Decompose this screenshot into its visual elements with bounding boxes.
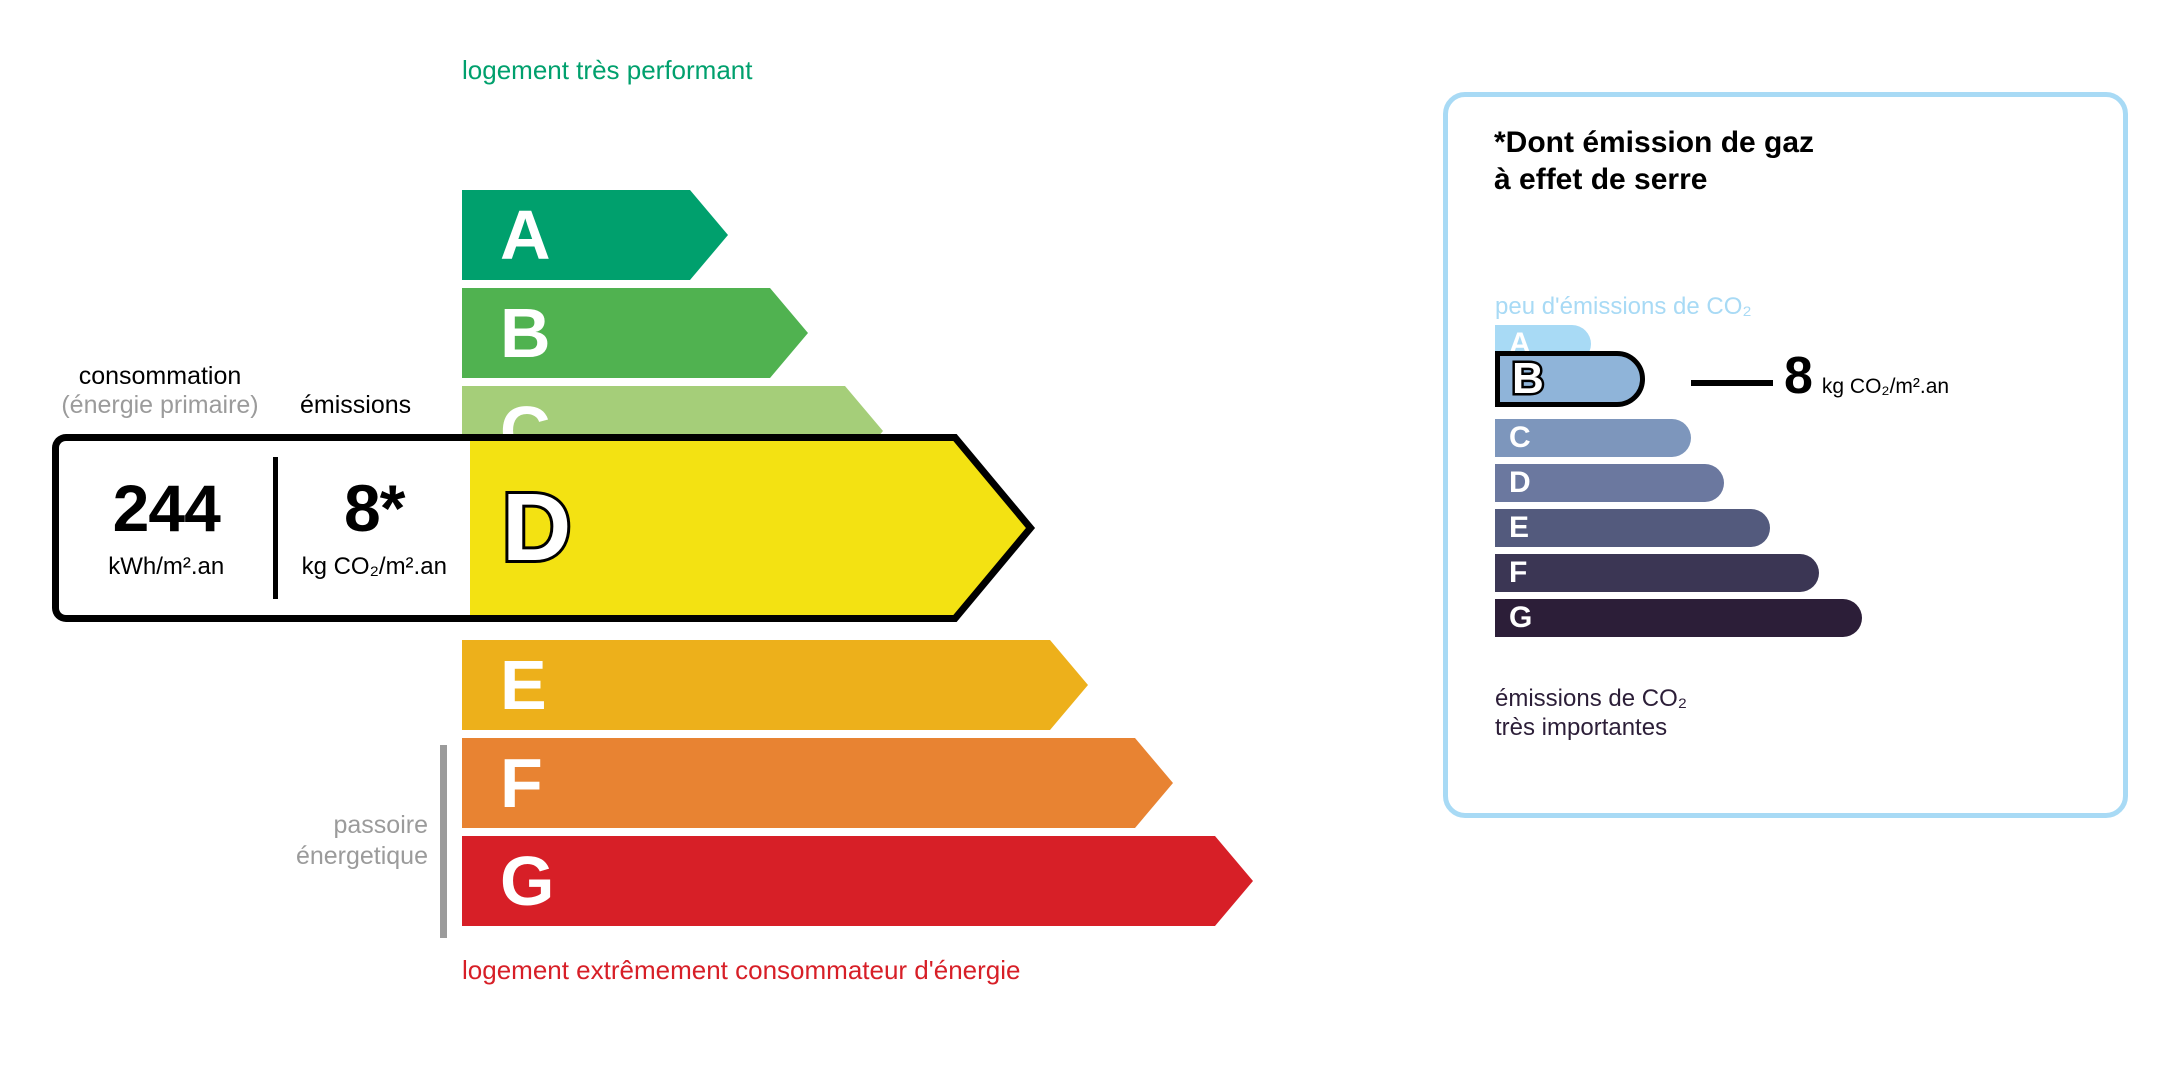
emissions-value: 8* [344, 475, 404, 541]
energy-band-letter-a: A [500, 200, 551, 270]
co2-connector-line [1691, 380, 1773, 386]
co2-bar-d: D [1495, 464, 1724, 502]
emissions-unit: kg CO₂/m².an [302, 553, 447, 581]
energy-top-caption: logement très performant [462, 55, 752, 86]
energy-band-g: G [462, 836, 1253, 926]
passoire-energetique-bar [440, 745, 447, 938]
consumption-cell: 244 kWh/m².an [59, 475, 273, 581]
co2-value-readout: 8 kg CO₂/m².an [1784, 350, 1949, 402]
energy-band-shape-g [462, 836, 1253, 926]
co2-bar-e: E [1495, 509, 1770, 547]
energy-band-f: F [462, 738, 1173, 828]
co2-bar-letter-c: C [1509, 423, 1531, 453]
value-box: 244 kWh/m².an 8* kg CO₂/m².an [52, 434, 470, 622]
emissions-header: émissions [300, 391, 411, 420]
energy-band-shape-e [462, 640, 1088, 730]
consumption-value: 244 [113, 475, 220, 541]
energy-bottom-caption: logement extrêmement consommateur d'éner… [462, 955, 1020, 986]
co2-panel: *Dont émission de gaz à effet de serre p… [1443, 92, 2128, 818]
energy-band-d: D [462, 434, 1034, 622]
energy-band-letter-b: B [500, 298, 551, 368]
consumption-header-subtitle: (énergie primaire) [60, 391, 260, 420]
co2-bar-f: F [1495, 554, 1819, 592]
energy-band-a: A [462, 190, 728, 280]
co2-bar-letter-e: E [1509, 513, 1529, 543]
passoire-line-2: énergetique [240, 841, 428, 872]
energy-band-letter-g: G [500, 846, 554, 916]
co2-top-caption: peu d'émissions de CO₂ [1495, 293, 1752, 321]
co2-bar-c: C [1495, 419, 1691, 457]
co2-bar-b: B [1495, 351, 1645, 407]
co2-value-unit: kg CO₂/m².an [1822, 375, 1949, 399]
energy-band-letter-d: D [502, 480, 571, 576]
co2-bar-letter-g: G [1509, 603, 1532, 633]
co2-bar-letter-d: D [1509, 468, 1531, 498]
consumption-header: consommation (énergie primaire) [60, 362, 260, 420]
energy-band-shape-f [462, 738, 1173, 828]
energy-band-b: B [462, 288, 808, 378]
co2-value-number: 8 [1784, 350, 1813, 402]
energy-performance-scale: logement très performant ABCDEFG logemen… [0, 0, 1300, 1079]
energy-band-letter-e: E [500, 650, 547, 720]
co2-bar-letter-f: F [1509, 558, 1527, 588]
co2-bar-g: G [1495, 599, 1862, 637]
passoire-line-1: passoire [240, 810, 428, 841]
energy-band-e: E [462, 640, 1088, 730]
consumption-unit: kWh/m².an [108, 553, 224, 581]
passoire-energetique-label: passoire énergetique [240, 810, 428, 871]
co2-panel-title: *Dont émission de gaz à effet de serre [1494, 125, 1814, 198]
dpe-diagram: logement très performant ABCDEFG logemen… [0, 0, 2170, 1079]
energy-band-letter-f: F [500, 748, 543, 818]
emissions-cell: 8* kg CO₂/m².an [278, 475, 470, 581]
consumption-header-title: consommation [79, 362, 242, 390]
co2-bottom-caption: émissions de CO₂ très importantes [1495, 685, 1687, 743]
co2-bar-letter-b: B [1512, 357, 1544, 401]
